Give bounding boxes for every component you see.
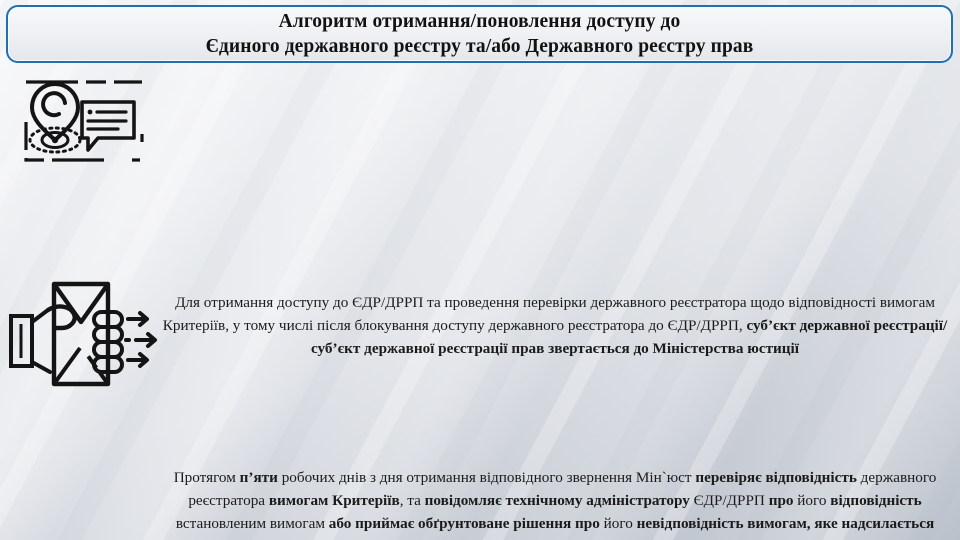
text-run-bold: повідомляє технічному адміністратору [425,492,690,509]
text-run: його [794,492,831,509]
location-pin-message-icon [22,76,960,171]
page-title: Алгоритм отримання/поновлення доступу до… [206,9,754,59]
text-run: встановленим вимогам [176,515,329,532]
text-run-bold: відповідність [830,492,921,509]
text-run-bold: п’яти [240,469,278,486]
text-run: ЄДР/ДРРП [690,492,769,509]
text-run: його [600,515,637,532]
paragraph-ministry-review: Протягом п’яти робочих днів з дня отрима… [155,466,955,540]
paragraph-apply-to-ministry: Для отримання доступу до ЄДР/ДРРП та про… [160,291,950,361]
title-line-1: Алгоритм отримання/поновлення доступу до [279,11,681,32]
text-run-bold: вимогам Критеріїв [269,492,400,509]
text-run: Протягом [174,469,240,486]
text-run-bold: або приймає обґрунтоване рішення про [329,515,600,532]
text-run: робочих днів з дня отримання відповідног… [278,469,695,486]
title-banner: Алгоритм отримання/поновлення доступу до… [6,5,953,63]
text-run: , та [400,492,425,509]
text-run-bold: про [769,492,794,509]
title-line-2: Єдиного державного реєстру та/або Держав… [206,34,754,59]
text-run-bold: перевіряє відповідність [695,469,857,486]
slide-canvas: Алгоритм отримання/поновлення доступу до… [0,0,960,540]
